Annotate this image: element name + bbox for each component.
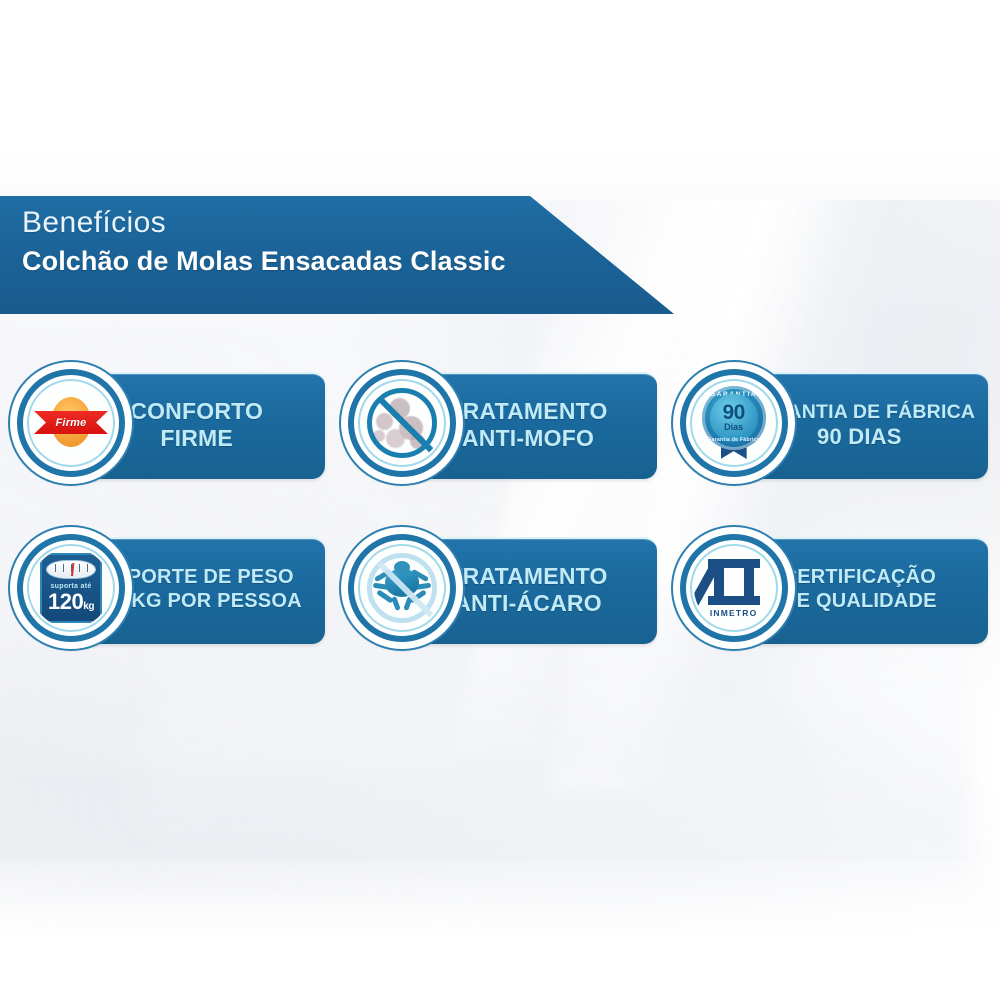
benefit-card-suporte-peso: suporta até 120kg SUPORTE DE PESO 120 KG…	[8, 527, 329, 653]
mite-head	[394, 561, 410, 574]
seal-unit: Dias	[724, 423, 743, 432]
seal-arc-bottom: Garantia de Fábrica	[702, 437, 766, 443]
mold-spore	[399, 416, 423, 440]
firme-ribbon-shape	[34, 411, 108, 434]
seal-disc	[702, 386, 766, 450]
benefit-line-1: CERTIFICAÇÃO	[783, 566, 937, 590]
mite-leg	[409, 589, 427, 603]
inmetro-label: INMETRO	[710, 608, 758, 618]
scale-number: 120kg	[48, 591, 94, 613]
warranty-seal-icon: GARANTIA 90 Dias Garantia de Fábrica	[673, 362, 795, 484]
prohibition-slash-icon	[367, 553, 437, 623]
benefit-card-garantia-fabrica: GARANTIA 90 Dias Garantia de Fábrica GAR…	[671, 362, 992, 488]
header-banner-text: Benefícios Colchão de Molas Ensacadas Cl…	[22, 208, 622, 275]
mite-body	[385, 569, 419, 597]
header-eyebrow: Benefícios	[22, 208, 622, 238]
mite-leg	[404, 596, 413, 611]
mite-leg	[412, 583, 432, 591]
mold-spore	[386, 429, 405, 448]
benefit-card-anti-mofo: TRATAMENTO ANTI-MOFO	[339, 362, 660, 488]
page-title: Colchão de Molas Ensacadas Classic	[22, 247, 622, 275]
benefit-line-1: TRATAMENTO	[448, 563, 607, 590]
mite-leg	[373, 583, 393, 591]
benefit-line-1: TRATAMENTO	[448, 398, 607, 425]
benefit-card-certificacao-qualidade: INMETRO CERTIFICAÇÃO DE QUALIDADE	[671, 527, 992, 653]
benefit-line-2: FIRME	[160, 425, 233, 452]
benefit-card-conforto-firme: Firme CONFORTO FIRME	[8, 362, 329, 488]
benefit-card-anti-acaro: TRATAMENTO ANTI-ÁCARO	[339, 527, 660, 653]
background-bottom-wash	[0, 860, 1000, 1000]
mold-spore	[373, 430, 385, 442]
benefit-line-2: ANTI-MOFO	[462, 425, 594, 452]
mold-spore	[389, 398, 410, 419]
mite-leg	[392, 596, 401, 611]
firme-ribbon-icon: Firme	[10, 362, 132, 484]
weight-scale-icon: suporta até 120kg	[10, 527, 132, 649]
benefit-line-2: DE QUALIDADE	[782, 590, 937, 614]
mold-spore	[376, 413, 393, 430]
no-dust-mite-icon	[341, 527, 463, 649]
benefit-line-1: CONFORTO	[130, 398, 263, 425]
seal-arc-top: GARANTIA	[702, 391, 766, 398]
firme-disc	[51, 397, 91, 447]
benefit-line-2: ANTI-ÁCARO	[454, 590, 602, 617]
scale-dial	[46, 560, 96, 579]
mite-leg	[376, 589, 394, 603]
benefit-line-2: 90 DIAS	[817, 424, 902, 450]
inmetro-logo-icon: INMETRO	[673, 527, 795, 649]
no-mold-icon	[341, 362, 463, 484]
mite-leg	[374, 569, 392, 582]
poster-canvas: Benefícios Colchão de Molas Ensacadas Cl…	[0, 0, 1000, 1000]
mold-spore	[410, 434, 425, 449]
benefits-grid: Firme CONFORTO FIRME	[8, 362, 992, 653]
prohibition-slash-icon	[367, 388, 437, 458]
seal-number: 90	[722, 404, 744, 423]
seal-ribbon-tail	[721, 431, 747, 459]
background-top-wash	[0, 0, 1000, 200]
mite-leg	[411, 569, 429, 582]
scale-caption: suporta até	[50, 583, 91, 590]
firme-ribbon-label: Firme	[34, 411, 108, 434]
inmetro-mark	[708, 559, 760, 605]
